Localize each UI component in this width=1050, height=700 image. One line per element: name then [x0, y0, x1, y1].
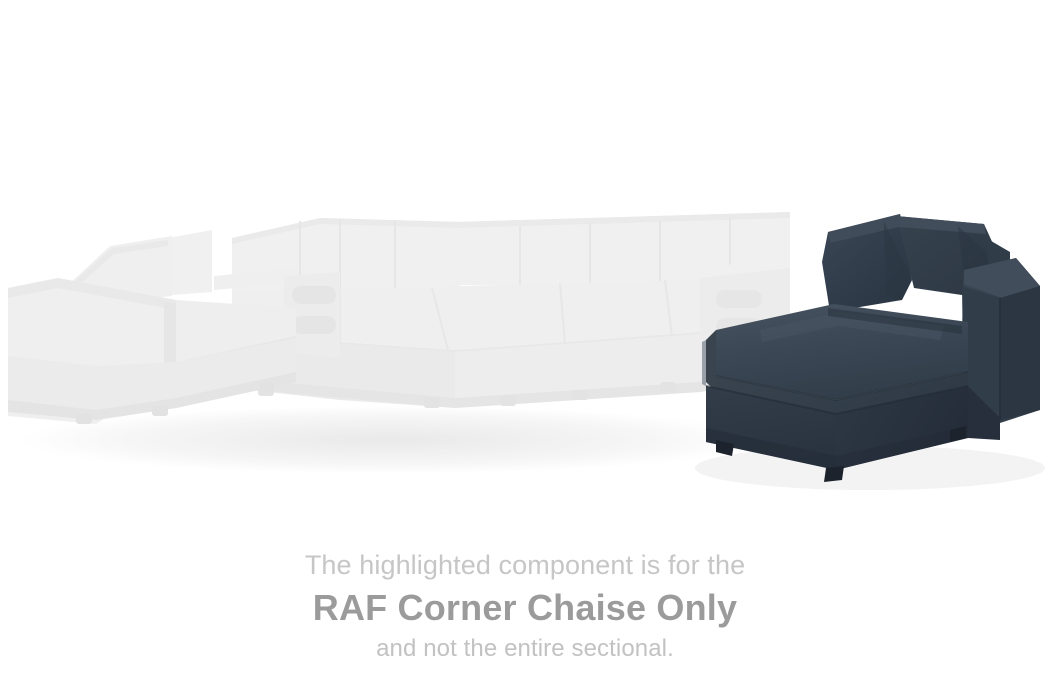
- ghost-foot-3: [500, 396, 516, 406]
- ghost-loveseat-foot-2: [152, 406, 168, 416]
- ghost-foot-5: [660, 382, 676, 392]
- ghost-sectional-group: [8, 212, 790, 474]
- ghost-loveseat-foot-3: [260, 382, 274, 391]
- chaise-arm-right-outer-face: [1000, 286, 1040, 420]
- ghost-foot-2: [424, 398, 440, 408]
- ghost-console-right-cupholder-1: [716, 290, 762, 308]
- product-image-canvas: The highlighted component is for the RAF…: [0, 0, 1050, 700]
- sectional-sofa-illustration: [0, 0, 1050, 520]
- ghost-loveseat-foot-1: [76, 414, 92, 424]
- ghost-console-left-cupholder-2: [292, 316, 336, 334]
- ghost-console-left-cupholder-1: [292, 286, 336, 304]
- caption-line-1: The highlighted component is for the: [0, 546, 1050, 584]
- chaise-foot-front-right: [824, 466, 844, 482]
- ghost-floor-shadow: [20, 406, 760, 474]
- caption-line-2-component-name: RAF Corner Chaise Only: [0, 584, 1050, 632]
- caption-line-3: and not the entire sectional.: [0, 632, 1050, 666]
- ghost-back-cushion-corner: [232, 218, 460, 298]
- chaise-left-edge-highlight: [702, 340, 706, 386]
- ghost-foot-4: [572, 390, 588, 400]
- chaise-seat-cushion-left-roll: [706, 330, 716, 392]
- caption-block: The highlighted component is for the RAF…: [0, 546, 1050, 666]
